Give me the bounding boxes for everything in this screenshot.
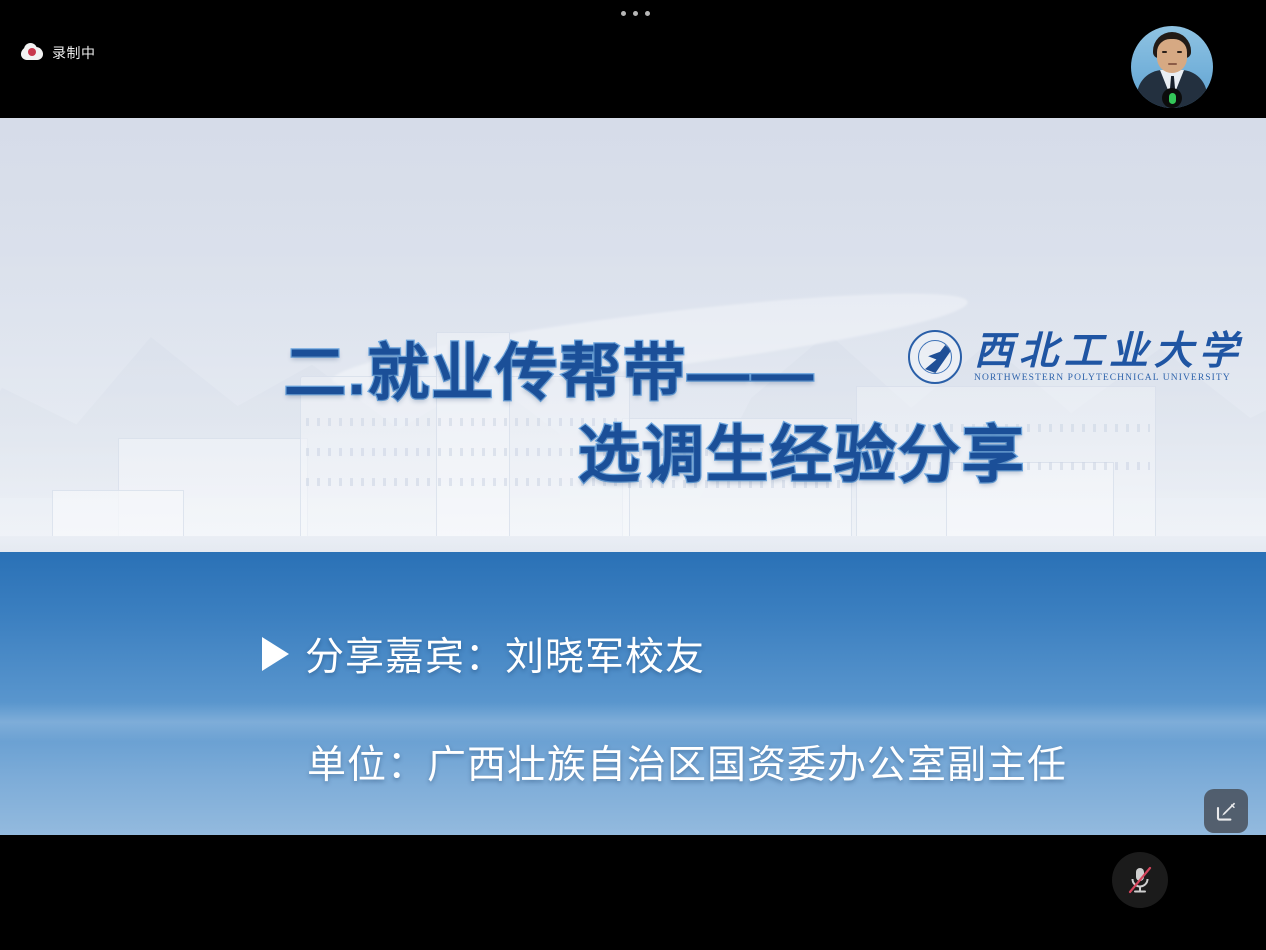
slide-info-panel: 分享嘉宾：刘晓军校友 单位：广西壮族自治区国资委办公室副主任 [0, 552, 1266, 835]
guest-label: 分享嘉宾：刘晓军校友 [305, 626, 705, 682]
microphone-button[interactable] [1112, 852, 1168, 908]
microphone-active-icon [1162, 88, 1182, 108]
recording-indicator: 录制中 [21, 43, 96, 63]
slide-headline: 二.就业传帮带—— 选调生经验分享 [0, 336, 1266, 493]
organization-row: 单位：广西壮族自治区国资委办公室副主任 [307, 734, 1067, 790]
play-triangle-icon [262, 637, 289, 671]
annotate-pencil-icon [1214, 799, 1238, 823]
meeting-screen: 录制中 刘晓军 [0, 0, 1266, 950]
headline-line-1: 二.就业传帮带—— [0, 336, 1266, 412]
annotate-button[interactable] [1204, 789, 1248, 833]
recording-label: 录制中 [52, 43, 96, 63]
shared-slide[interactable]: 西北工业大学 NORTHWESTERN POLYTECHNICAL UNIVER… [0, 118, 1266, 835]
headline-line-2: 选调生经验分享 [0, 418, 1266, 494]
guest-row: 分享嘉宾：刘晓军校友 [262, 626, 705, 682]
more-options-icon[interactable] [619, 6, 651, 20]
presenter-video-tile[interactable] [1131, 26, 1213, 108]
organization-label: 单位：广西壮族自治区国资委办公室副主任 [307, 744, 1067, 787]
recording-cloud-icon [21, 45, 43, 61]
top-bar: 录制中 [0, 0, 1266, 118]
microphone-muted-icon [1127, 865, 1153, 895]
